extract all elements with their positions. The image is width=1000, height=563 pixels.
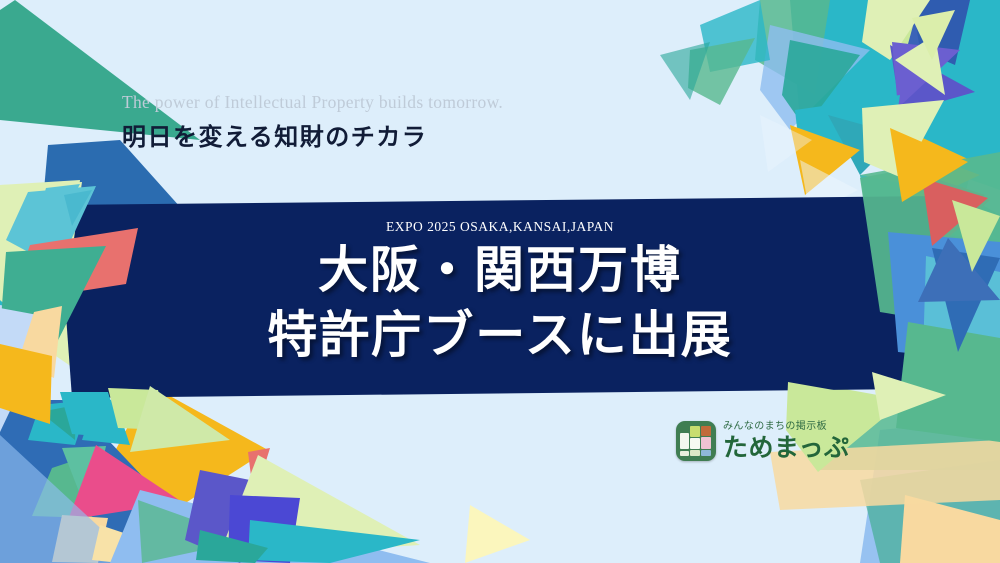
logo-text-block: みんなのまちの掲示板 ためまっぷ xyxy=(723,422,850,460)
promo-poster: The power of Intellectual Property build… xyxy=(0,0,1000,563)
bulletin-board-tiles xyxy=(676,421,716,461)
navy-banner-shape xyxy=(58,196,942,398)
tamemap-logo[interactable]: みんなのまちの掲示板 ためまっぷ xyxy=(676,421,850,461)
logo-subtitle: みんなのまちの掲示板 xyxy=(723,422,850,432)
tagline-english: The power of Intellectual Property build… xyxy=(122,92,682,113)
logo-name: ためまっぷ xyxy=(723,435,850,460)
decorative-triangles xyxy=(0,0,1000,563)
tagline-block: The power of Intellectual Property build… xyxy=(122,92,682,152)
triangle xyxy=(465,505,530,563)
tagline-japanese: 明日を変える知財のチカラ xyxy=(122,117,682,152)
triangle xyxy=(896,322,1000,442)
bulletin-board-icon xyxy=(676,421,716,461)
